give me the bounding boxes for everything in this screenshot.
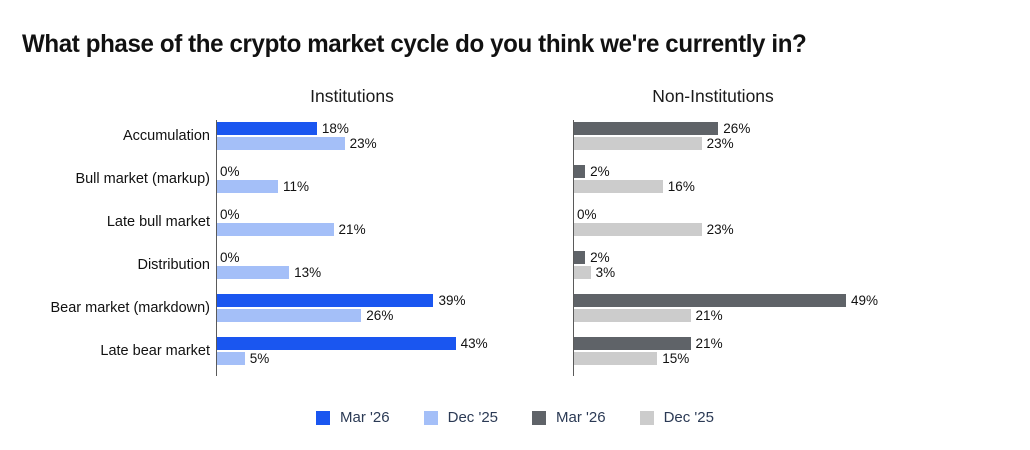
bar xyxy=(574,180,663,193)
chart-legend: Mar '26Dec '25Mar '26Dec '25 xyxy=(0,409,1030,426)
bar-value-label: 0% xyxy=(220,208,240,221)
bar xyxy=(217,180,278,193)
bar-value-label: 43% xyxy=(461,337,488,350)
category-label: Late bear market xyxy=(0,344,210,359)
bar xyxy=(574,294,846,307)
bar-value-label: 18% xyxy=(322,122,349,135)
bar-value-label: 21% xyxy=(696,309,723,322)
bar xyxy=(574,122,718,135)
plot-panel-institutions: 18%0%0%0%39%43%23%11%21%13%26%5% xyxy=(216,0,556,450)
bar-value-label: 26% xyxy=(366,309,393,322)
legend-label: Mar '26 xyxy=(556,409,606,426)
bar-value-label: 26% xyxy=(723,122,750,135)
bar xyxy=(217,266,289,279)
legend-item[interactable]: Mar '26 xyxy=(316,409,390,426)
bar-value-label: 49% xyxy=(851,294,878,307)
bar-value-label: 21% xyxy=(339,223,366,236)
bar xyxy=(217,137,345,150)
bar-value-label: 23% xyxy=(707,223,734,236)
bar xyxy=(574,165,585,178)
legend-label: Dec '25 xyxy=(448,409,498,426)
bar-value-label: 16% xyxy=(668,180,695,193)
legend-swatch-icon xyxy=(640,411,654,425)
bar-value-label: 21% xyxy=(696,337,723,350)
category-label: Bull market (markup) xyxy=(0,172,210,187)
legend-item[interactable]: Dec '25 xyxy=(424,409,498,426)
legend-swatch-icon xyxy=(532,411,546,425)
legend-label: Mar '26 xyxy=(340,409,390,426)
legend-label: Dec '25 xyxy=(664,409,714,426)
category-axis: AccumulationBull market (markup)Late bul… xyxy=(0,0,210,450)
plot-panel-non-institutions: 26%2%0%2%49%21%23%16%23%3%21%15% xyxy=(573,0,1023,450)
bar xyxy=(574,223,702,236)
bar xyxy=(574,337,691,350)
bar xyxy=(217,223,334,236)
bar-value-label: 15% xyxy=(662,352,689,365)
bar xyxy=(217,337,456,350)
category-label: Late bull market xyxy=(0,215,210,230)
bar xyxy=(217,122,317,135)
bar xyxy=(217,352,245,365)
bar-value-label: 2% xyxy=(590,165,610,178)
bar xyxy=(574,266,591,279)
bar-value-label: 0% xyxy=(220,165,240,178)
bar-value-label: 23% xyxy=(707,137,734,150)
bar-value-label: 11% xyxy=(283,180,309,193)
category-label: Bear market (markdown) xyxy=(0,301,210,316)
bar-value-label: 5% xyxy=(250,352,270,365)
bar xyxy=(217,294,433,307)
bar-value-label: 3% xyxy=(596,266,616,279)
bar-value-label: 0% xyxy=(577,208,597,221)
bar-value-label: 39% xyxy=(438,294,465,307)
legend-item[interactable]: Mar '26 xyxy=(532,409,606,426)
bar xyxy=(574,352,657,365)
bar xyxy=(574,309,691,322)
bar xyxy=(574,137,702,150)
legend-item[interactable]: Dec '25 xyxy=(640,409,714,426)
bar-value-label: 0% xyxy=(220,251,240,264)
legend-swatch-icon xyxy=(424,411,438,425)
bar-value-label: 13% xyxy=(294,266,321,279)
bar-chart: What phase of the crypto market cycle do… xyxy=(0,0,1030,450)
legend-swatch-icon xyxy=(316,411,330,425)
category-label: Accumulation xyxy=(0,129,210,144)
bar xyxy=(574,251,585,264)
bar xyxy=(217,309,361,322)
bar-value-label: 23% xyxy=(350,137,377,150)
bar-value-label: 2% xyxy=(590,251,610,264)
category-label: Distribution xyxy=(0,258,210,273)
